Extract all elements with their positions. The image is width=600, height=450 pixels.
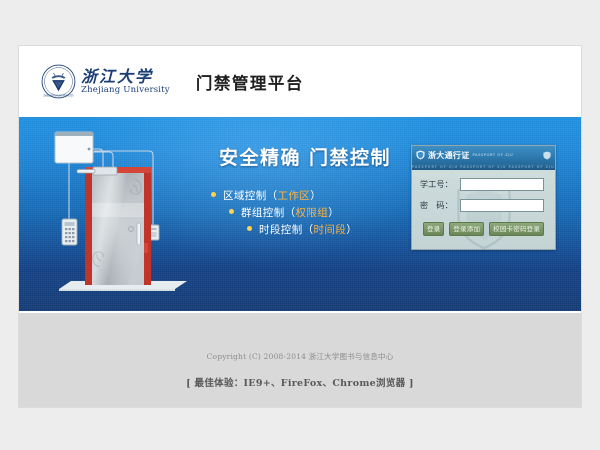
feature-label-prefix: 区域控制（ xyxy=(223,190,278,202)
login-button[interactable]: 登录 xyxy=(423,222,444,236)
shield-icon xyxy=(416,150,425,160)
svg-text:ZHEJIANG UNIVERSITY: ZHEJIANG UNIVERSITY xyxy=(43,95,74,98)
userid-input[interactable] xyxy=(460,178,544,191)
login-title-en: PASSPORT OF ZJU xyxy=(473,153,514,157)
password-input[interactable] xyxy=(460,199,544,212)
university-logo[interactable]: ZHEJIANG UNIVERSITY 浙江大学 Zhejiang Univer… xyxy=(41,64,170,99)
login-title-cn: 浙大通行证 xyxy=(428,150,470,161)
login-button-row: 登录 登录添加 校园卡密码登录 xyxy=(412,222,555,236)
login-passport-strip: PASSPORT OF ZJU PASSPORT OF ZJU PASSPORT… xyxy=(412,164,555,170)
login-add-button[interactable]: 登录添加 xyxy=(449,222,484,236)
site-header: ZHEJIANG UNIVERSITY 浙江大学 Zhejiang Univer… xyxy=(19,46,581,117)
feature-label-prefix: 时段控制（ xyxy=(259,224,314,236)
field-row-password: 密 码： xyxy=(420,199,555,212)
password-label: 密 码： xyxy=(420,200,460,211)
footer-browser-hint: [ 最佳体验：IE9+、FireFox、Chrome浏览器 ] xyxy=(19,375,581,389)
feature-label-prefix: 群组控制（ xyxy=(241,207,296,219)
door-access-control-illustration xyxy=(37,127,197,303)
feature-item-group-control: 群组控制（权限组） xyxy=(197,205,413,222)
page-title: 门禁管理平台 xyxy=(196,70,304,94)
field-row-userid: 学工号： xyxy=(420,178,555,191)
bullet-dot-icon xyxy=(247,226,252,231)
keypad-reader-icon xyxy=(62,219,77,245)
campus-card-login-button[interactable]: 校园卡密码登录 xyxy=(489,222,544,236)
feature-label-highlight: 工作区 xyxy=(278,190,311,202)
bullet-dot-icon xyxy=(229,209,234,214)
bullet-dot-icon xyxy=(211,192,216,197)
shield-icon xyxy=(543,151,551,160)
logo-name-cn: 浙江大学 xyxy=(81,68,170,85)
controller-box-icon xyxy=(55,132,93,163)
footer-copyright: Copyright (C) 2008-2014 浙江大学图书与信息中心 xyxy=(19,351,581,362)
feature-list: 区域控制（工作区） 群组控制（权限组） 时段控制（时间段） xyxy=(197,188,413,239)
page-card: ZHEJIANG UNIVERSITY 浙江大学 Zhejiang Univer… xyxy=(18,45,582,408)
feature-label-suffix: ） xyxy=(310,190,321,202)
feature-label-suffix: ） xyxy=(328,207,339,219)
feature-item-time-control: 时段控制（时间段） xyxy=(197,222,413,239)
door-closer-icon xyxy=(77,167,117,175)
logo-name-en: Zhejiang University xyxy=(81,85,170,95)
banner-slogan: 安全精确 门禁控制 xyxy=(197,143,413,170)
hero-banner: 安全精确 门禁控制 区域控制（工作区） 群组控制（权限组） 时段控制（时间段） xyxy=(19,117,581,311)
login-panel-titlebar: 浙大通行证 PASSPORT OF ZJU xyxy=(412,146,555,164)
login-form: 学工号： 密 码： 登录 登录添加 校园卡密码登录 xyxy=(412,178,555,250)
site-footer: Copyright (C) 2008-2014 浙江大学图书与信息中心 [ 最佳… xyxy=(19,311,581,408)
feature-label-highlight: 权限组 xyxy=(296,207,329,219)
login-panel: 浙大通行证 PASSPORT OF ZJU PASSPORT OF ZJU PA… xyxy=(411,145,556,250)
zju-seal-icon: ZHEJIANG UNIVERSITY xyxy=(41,64,76,99)
feature-item-area-control: 区域控制（工作区） xyxy=(197,188,413,205)
feature-label-highlight: 时间段 xyxy=(314,224,347,236)
feature-label-suffix: ） xyxy=(346,224,357,236)
slogan-block: 安全精确 门禁控制 区域控制（工作区） 群组控制（权限组） 时段控制（时间段） xyxy=(197,143,413,239)
userid-label: 学工号： xyxy=(420,179,460,190)
